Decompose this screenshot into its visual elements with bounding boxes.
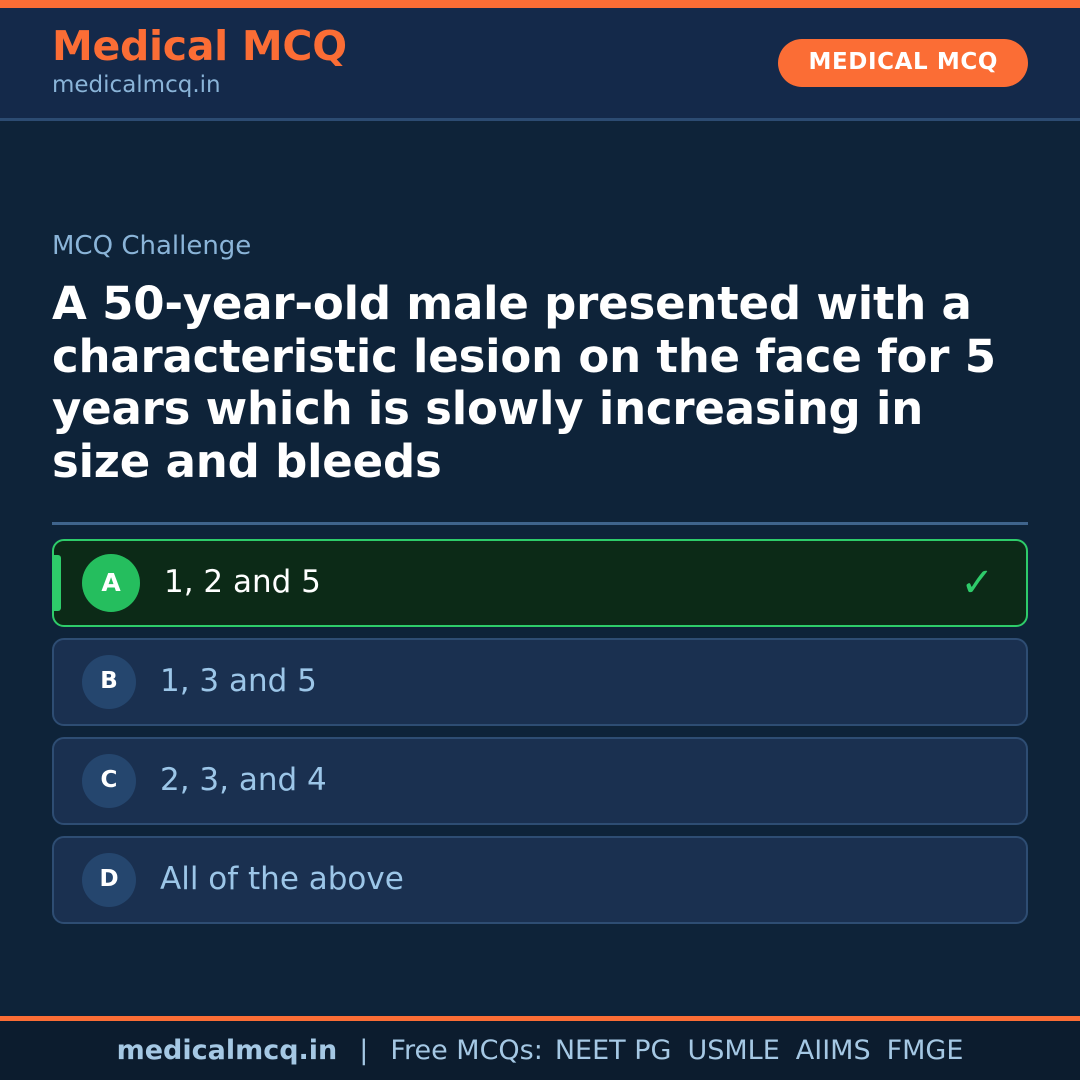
option-a[interactable]: A 1, 2 and 5 ✓ [52, 539, 1028, 627]
footer-content: medicalmcq.in | Free MCQs: NEET PG USMLE… [117, 1037, 964, 1064]
option-d-letter-badge: D [82, 853, 136, 907]
option-c[interactable]: C 2, 3, and 4 ✓ [52, 737, 1028, 825]
footer-site-link[interactable]: medicalmcq.in [117, 1037, 338, 1064]
option-c-letter-badge: C [82, 754, 136, 808]
header-badge[interactable]: MEDICAL MCQ [778, 39, 1028, 87]
main-content: MCQ Challenge A 50-year-old male present… [0, 121, 1080, 1016]
brand-block: Medical MCQ medicalmcq.in [52, 24, 347, 99]
option-a-letter-badge: A [82, 554, 140, 612]
header-bar: Medical MCQ medicalmcq.in MEDICAL MCQ [0, 8, 1080, 121]
option-a-text: 1, 2 and 5 [164, 564, 960, 601]
question-divider [52, 522, 1028, 525]
option-b-text: 1, 3 and 5 [160, 663, 960, 700]
check-icon: ✓ [960, 563, 994, 603]
kicker-label: MCQ Challenge [52, 231, 1028, 262]
option-d-text: All of the above [160, 861, 960, 898]
footer-exam-usmle[interactable]: USMLE [687, 1037, 779, 1064]
option-b-letter-badge: B [82, 655, 136, 709]
footer-bar: medicalmcq.in | Free MCQs: NEET PG USMLE… [0, 1016, 1080, 1080]
options-list: A 1, 2 and 5 ✓ B 1, 3 and 5 ✓ C 2, 3, an… [52, 539, 1028, 924]
option-d[interactable]: D All of the above ✓ [52, 836, 1028, 924]
question-text: A 50-year-old male presented with a char… [52, 278, 1028, 489]
footer-exam-neet-pg[interactable]: NEET PG [555, 1037, 672, 1064]
brand-subtitle: medicalmcq.in [52, 71, 347, 100]
footer-label: Free MCQs: [390, 1037, 542, 1064]
footer-exam-fmge[interactable]: FMGE [887, 1037, 964, 1064]
option-c-text: 2, 3, and 4 [160, 762, 960, 799]
mcq-card: Medical MCQ medicalmcq.in MEDICAL MCQ MC… [0, 0, 1080, 1080]
brand-title: Medical MCQ [52, 24, 347, 68]
footer-separator: | [359, 1037, 368, 1064]
footer-exam-aiims[interactable]: AIIMS [796, 1037, 871, 1064]
option-b[interactable]: B 1, 3 and 5 ✓ [52, 638, 1028, 726]
top-accent-bar [0, 0, 1080, 8]
